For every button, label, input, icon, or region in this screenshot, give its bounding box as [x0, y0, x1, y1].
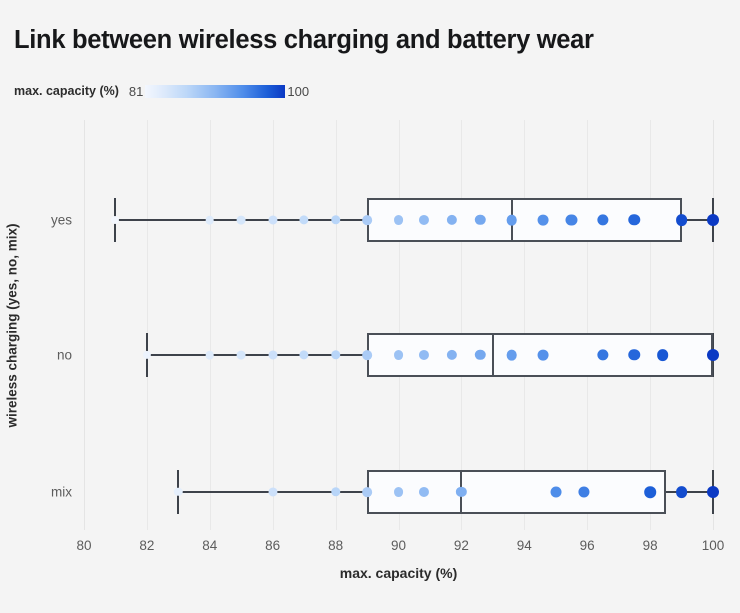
data-point[interactable]: [566, 214, 577, 225]
data-point[interactable]: [538, 350, 549, 361]
data-point[interactable]: [707, 486, 719, 498]
boxplot-row-no[interactable]: [84, 300, 713, 410]
chart-root: Link between wireless charging and batte…: [0, 0, 740, 613]
x-tick-label: 92: [454, 538, 469, 553]
data-point[interactable]: [644, 486, 656, 498]
x-tick-label: 80: [76, 538, 91, 553]
legend-max-value: 100: [287, 84, 309, 99]
data-point[interactable]: [506, 215, 517, 226]
x-axis-tick-labels: 80828486889092949698100: [84, 530, 713, 564]
data-point[interactable]: [331, 215, 340, 224]
grid-line: [713, 120, 714, 530]
legend-title: max. capacity (%): [14, 84, 119, 98]
legend-min-value: 81: [129, 84, 143, 99]
data-point[interactable]: [676, 486, 688, 498]
data-point[interactable]: [362, 487, 372, 497]
data-point[interactable]: [394, 350, 404, 360]
legend: max. capacity (%) 81 100: [14, 80, 309, 102]
x-tick-label: 82: [139, 538, 154, 553]
data-point[interactable]: [268, 487, 277, 496]
y-tick-label-yes: yes: [51, 213, 72, 228]
data-point[interactable]: [237, 216, 246, 225]
data-point[interactable]: [268, 350, 277, 359]
legend-colorbar: [145, 85, 285, 98]
data-point[interactable]: [506, 350, 517, 361]
x-tick-label: 96: [580, 538, 595, 553]
data-point[interactable]: [300, 350, 309, 359]
data-point[interactable]: [538, 215, 549, 226]
data-point[interactable]: [707, 349, 719, 361]
data-point[interactable]: [362, 350, 372, 360]
data-point[interactable]: [331, 350, 340, 359]
y-tick-label-mix: mix: [51, 485, 72, 500]
x-axis-title: max. capacity (%): [84, 565, 713, 581]
x-tick-label: 88: [328, 538, 343, 553]
x-tick-label: 94: [517, 538, 532, 553]
boxplot-row-yes[interactable]: [84, 165, 713, 275]
y-axis-tick-labels: yesnomix: [0, 120, 84, 530]
data-point[interactable]: [657, 349, 669, 361]
data-point[interactable]: [331, 487, 340, 496]
whisker-high-line: [666, 491, 713, 493]
data-point[interactable]: [394, 487, 404, 497]
x-tick-label: 84: [202, 538, 217, 553]
page-title: Link between wireless charging and batte…: [14, 26, 594, 55]
data-point[interactable]: [268, 215, 277, 224]
data-point[interactable]: [143, 351, 151, 359]
data-point[interactable]: [237, 351, 246, 360]
data-point[interactable]: [300, 215, 309, 224]
data-point[interactable]: [205, 351, 214, 360]
data-point[interactable]: [707, 214, 719, 226]
data-point[interactable]: [550, 487, 561, 498]
data-point[interactable]: [676, 214, 688, 226]
median-line: [492, 333, 494, 377]
data-point[interactable]: [205, 216, 214, 225]
y-tick-label-no: no: [57, 348, 72, 363]
x-tick-label: 90: [391, 538, 406, 553]
data-point[interactable]: [394, 215, 404, 225]
x-tick-label: 86: [265, 538, 280, 553]
data-point[interactable]: [111, 216, 119, 224]
x-tick-label: 100: [702, 538, 725, 553]
x-tick-label: 98: [643, 538, 658, 553]
plot-area: 80828486889092949698100: [84, 120, 713, 530]
data-point[interactable]: [174, 488, 182, 496]
data-point[interactable]: [362, 215, 372, 225]
box-iqr[interactable]: [367, 470, 666, 514]
